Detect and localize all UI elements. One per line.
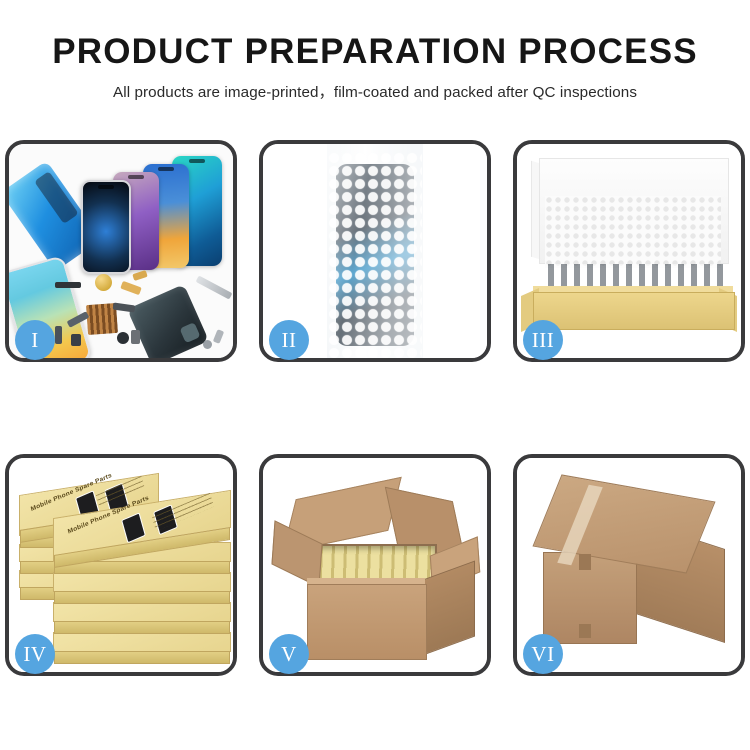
header: PRODUCT PREPARATION PROCESS All products… (0, 0, 750, 102)
step-badge-6: VI (523, 634, 563, 674)
step-badge-2: II (269, 320, 309, 360)
carton-front-face (307, 584, 427, 660)
spare-part (131, 330, 140, 344)
box-side-face (54, 591, 230, 604)
step-panel-5[interactable]: V (259, 454, 491, 676)
notch-icon (98, 185, 114, 189)
plastic-sheen (327, 144, 423, 358)
notch-icon (128, 175, 144, 179)
page-subtitle: All products are image-printed，film-coat… (0, 80, 750, 102)
phone-back-housing (127, 284, 209, 358)
step-badge-1: I (15, 320, 55, 360)
box-side-face (54, 621, 230, 634)
spare-part (117, 332, 129, 344)
flex-cable-part (132, 270, 147, 281)
phone-display-1 (81, 180, 131, 274)
foam-liner (545, 196, 721, 268)
stacked-box (53, 572, 231, 592)
spare-part (55, 326, 62, 344)
box-top-face (54, 633, 230, 651)
stacked-box (53, 602, 231, 622)
step-badge-3: III (523, 320, 563, 360)
screwdriver-tool (196, 275, 233, 299)
step-panel-3[interactable]: III (513, 140, 745, 362)
step-badge-5: V (269, 634, 309, 674)
step-panel-4[interactable]: Mobile Phone Spare Parts Mobile Pho (5, 454, 237, 676)
screw-part (213, 329, 224, 344)
stacked-box (53, 632, 231, 652)
step-panel-6[interactable]: VI (513, 454, 745, 676)
step-panel-2[interactable]: II (259, 140, 491, 362)
screw-part (203, 340, 212, 349)
carton-hand-hole (579, 554, 591, 570)
box-top-face (54, 573, 230, 591)
product-preparation-infographic: PRODUCT PREPARATION PROCESS All products… (0, 0, 750, 750)
step-badge-4: IV (15, 634, 55, 674)
notch-icon (189, 159, 205, 163)
flex-cable-part (120, 281, 142, 295)
process-step-grid: I II III (0, 140, 750, 676)
step-panel-1[interactable]: I (5, 140, 237, 362)
spare-part (55, 282, 81, 288)
box-front-panel (533, 292, 735, 330)
box-side-face (54, 651, 230, 664)
notch-icon (158, 167, 174, 171)
spare-part (71, 334, 81, 346)
box-top-face (54, 603, 230, 621)
speaker-coil-part (95, 274, 112, 291)
page-title: PRODUCT PREPARATION PROCESS (0, 34, 750, 71)
carton-hand-hole (579, 624, 591, 638)
